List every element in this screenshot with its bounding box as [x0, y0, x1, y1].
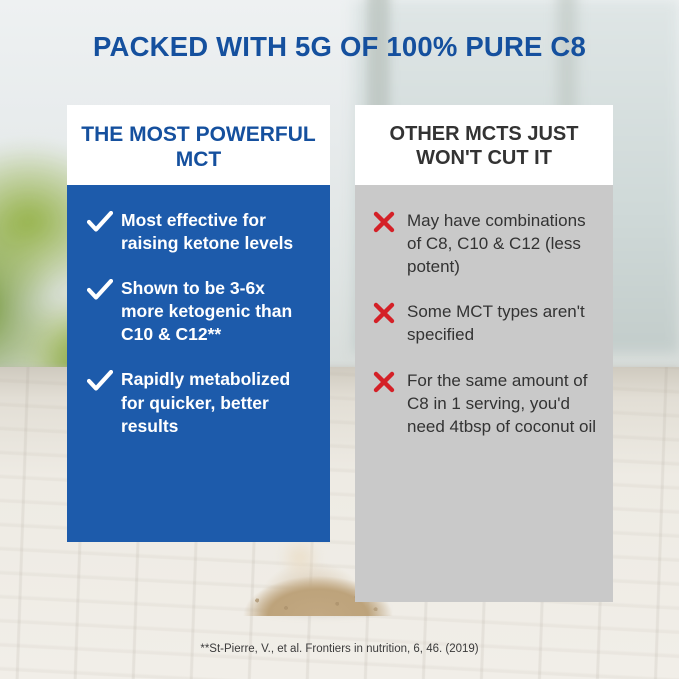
list-item: Rapidly metabolized for quicker, better … [87, 368, 312, 437]
cross-icon [373, 369, 407, 393]
list-item-label: May have combinations of C8, C10 & C12 (… [407, 209, 599, 278]
column-other-mcts: OTHER MCTS JUST WON'T CUT IT May have co… [355, 105, 613, 602]
cross-icon [373, 300, 407, 324]
list-item-label: Rapidly metabolized for quicker, better … [121, 368, 312, 437]
list-item-label: Shown to be 3-6x more ketogenic than C10… [121, 277, 312, 346]
list-item-label: Most effective for raising ketone levels [121, 209, 312, 255]
column-left-body: Most effective for raising ketone levels… [67, 185, 330, 542]
column-right-heading: OTHER MCTS JUST WON'T CUT IT [355, 105, 613, 185]
column-most-powerful-mct: THE MOST POWERFUL MCT Most effective for… [67, 105, 330, 542]
column-right-body: May have combinations of C8, C10 & C12 (… [355, 185, 613, 602]
list-item-label: Some MCT types aren't specified [407, 300, 599, 346]
check-icon [87, 368, 121, 392]
list-item-label: For the same amount of C8 in 1 serving, … [407, 369, 599, 438]
check-icon [87, 209, 121, 233]
list-item: Shown to be 3-6x more ketogenic than C10… [87, 277, 312, 346]
footnote-citation: **St-Pierre, V., et al. Frontiers in nut… [0, 643, 679, 655]
column-left-heading: THE MOST POWERFUL MCT [67, 105, 330, 185]
list-item: Most effective for raising ketone levels [87, 209, 312, 255]
check-icon [87, 277, 121, 301]
cross-icon [373, 209, 407, 233]
list-item: Some MCT types aren't specified [373, 300, 599, 346]
page-title: PACKED WITH 5G OF 100% PURE C8 [0, 32, 679, 62]
list-item: May have combinations of C8, C10 & C12 (… [373, 209, 599, 278]
list-item: For the same amount of C8 in 1 serving, … [373, 369, 599, 438]
